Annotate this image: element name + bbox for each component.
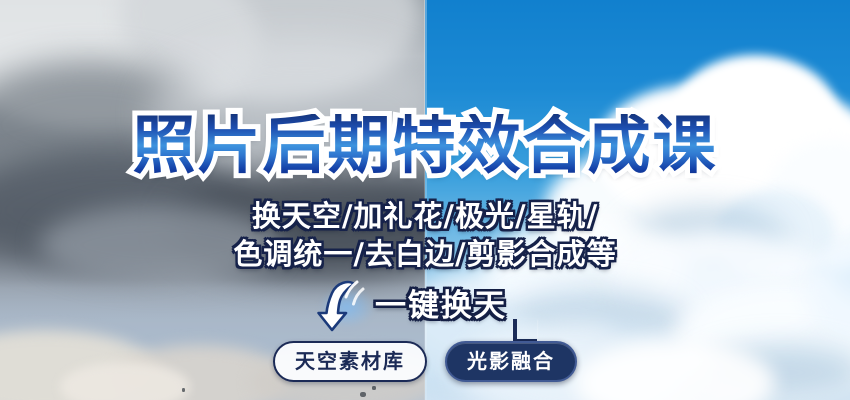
subtitle-line-2: 色调统一/去白边/剪影合成等 <box>0 240 850 269</box>
page-title: 照片后期特效合成课 <box>0 114 850 177</box>
sky-replacement-course-banner: 照片后期特效合成课 照片后期特效合成课 换天空/加礼花/极光/星轨/ 色调统一/… <box>0 0 850 400</box>
callout-row: 一键换天 <box>0 277 850 335</box>
subtitle-line-1: 换天空/加礼花/极光/星轨/ <box>0 202 850 231</box>
curved-down-arrow-icon <box>313 278 371 334</box>
corner-bracket-icon <box>513 319 537 343</box>
banner-content: 照片后期特效合成课 照片后期特效合成课 换天空/加礼花/极光/星轨/ 色调统一/… <box>0 0 850 400</box>
callout-text: 一键换天 <box>375 291 507 322</box>
badge-group: 天空素材库 光影融合 <box>0 341 850 382</box>
badge-light-shadow-blend[interactable]: 光影融合 <box>445 341 577 382</box>
badge-sky-asset-library[interactable]: 天空素材库 <box>273 341 427 382</box>
